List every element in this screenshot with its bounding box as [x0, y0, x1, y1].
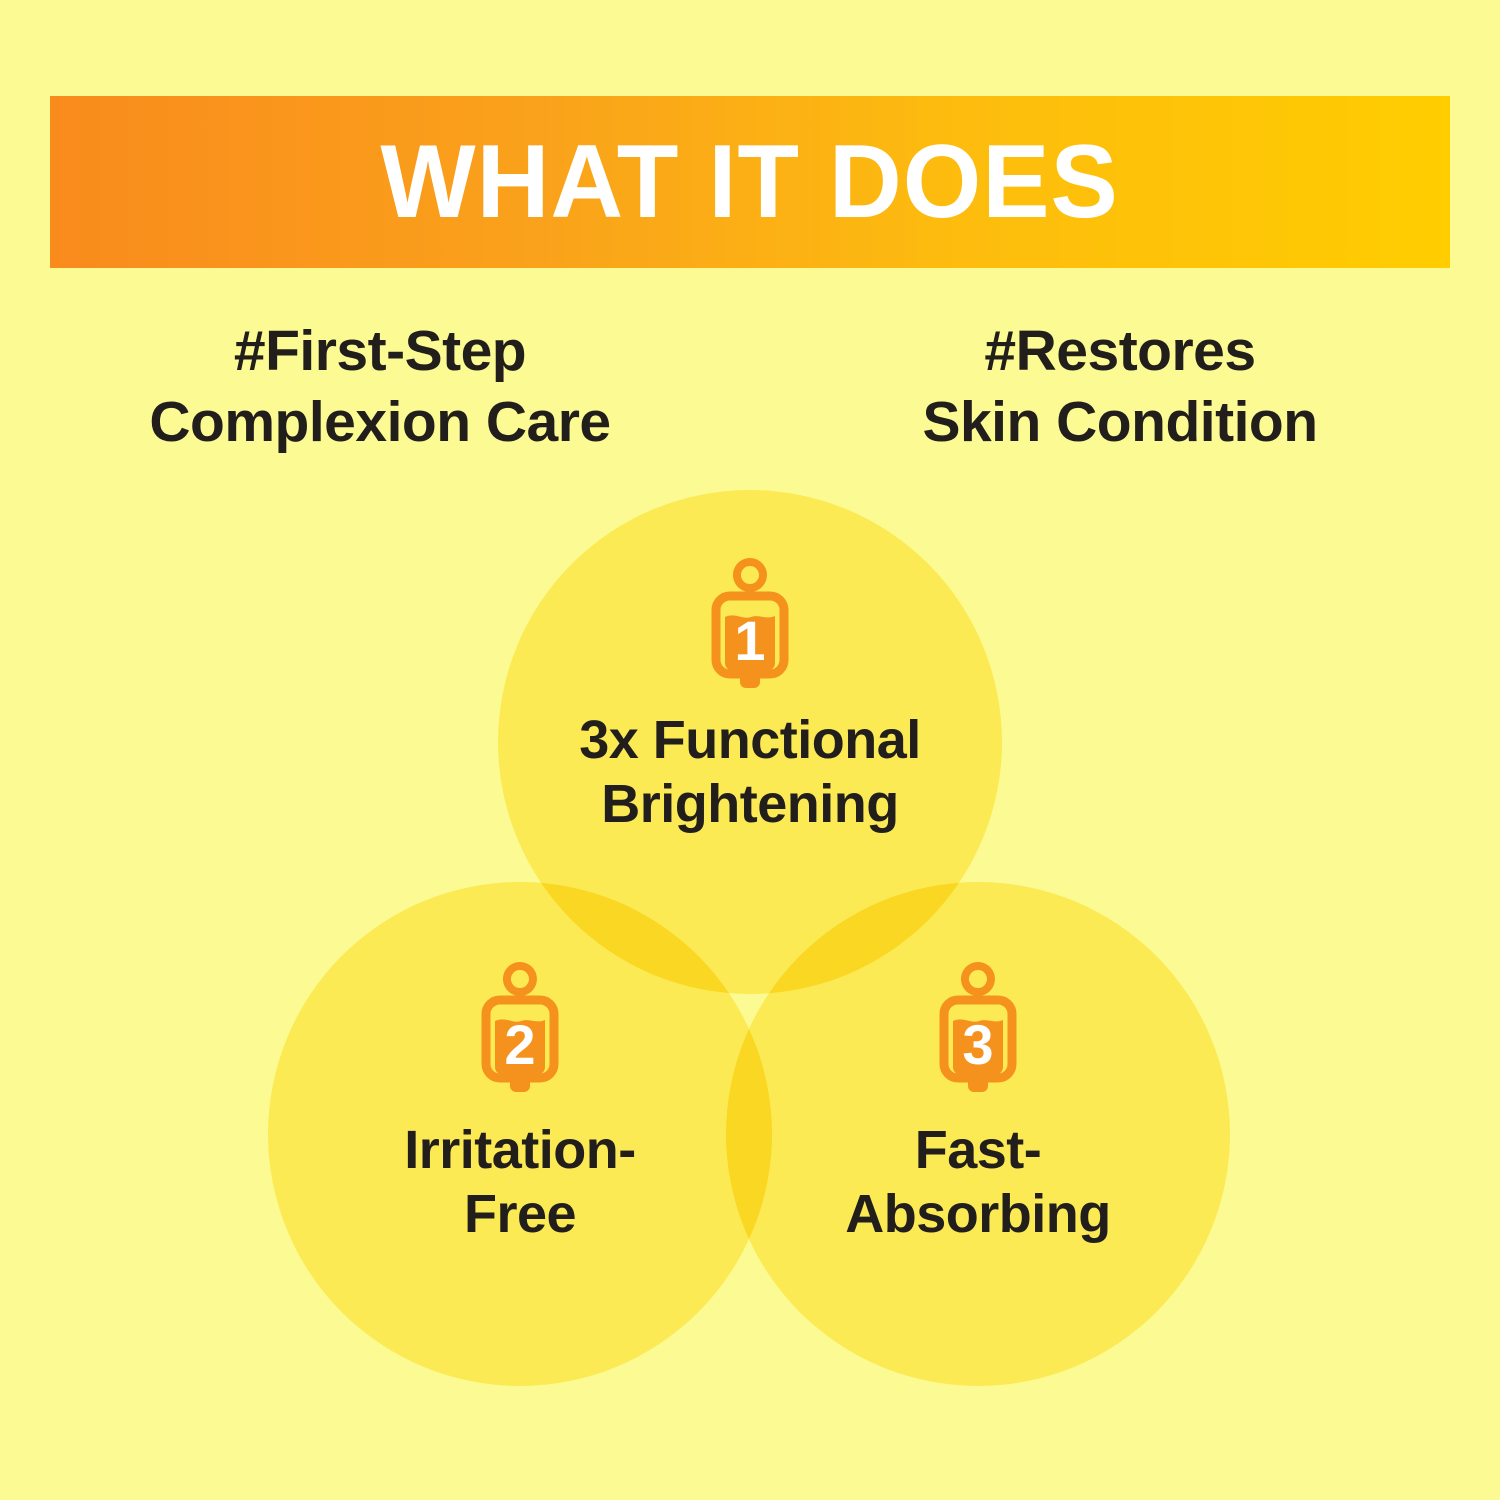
venn-node-label: 3x Functional Brightening: [579, 709, 921, 836]
node-label-line-1: Irritation-: [404, 1119, 636, 1183]
venn-node-label: Fast- Absorbing: [845, 1119, 1110, 1246]
icon-number: 3: [962, 1013, 993, 1076]
infographic-page: WHAT IT DOES #First-Step Complexion Care…: [0, 0, 1500, 1500]
venn-diagram: 1 3x Functional Brightening 2: [0, 0, 1500, 1500]
iv-drip-bag-icon: 3: [932, 960, 1024, 1097]
venn-node-fast-absorbing: 3 Fast- Absorbing: [726, 960, 1230, 1246]
node-label-line-1: 3x Functional: [579, 709, 921, 773]
node-label-line-1: Fast-: [845, 1119, 1110, 1183]
venn-node-label: Irritation- Free: [404, 1119, 636, 1246]
iv-drip-bag-icon: 2: [474, 960, 566, 1097]
node-label-line-2: Brightening: [579, 773, 921, 837]
venn-node-brightening: 1 3x Functional Brightening: [498, 556, 1002, 836]
node-label-line-2: Free: [404, 1183, 636, 1247]
iv-drip-bag-icon: 1: [704, 556, 796, 693]
node-label-line-2: Absorbing: [845, 1183, 1110, 1247]
icon-number: 1: [734, 609, 765, 672]
icon-number: 2: [504, 1013, 535, 1076]
venn-node-irritation-free: 2 Irritation- Free: [268, 960, 772, 1246]
